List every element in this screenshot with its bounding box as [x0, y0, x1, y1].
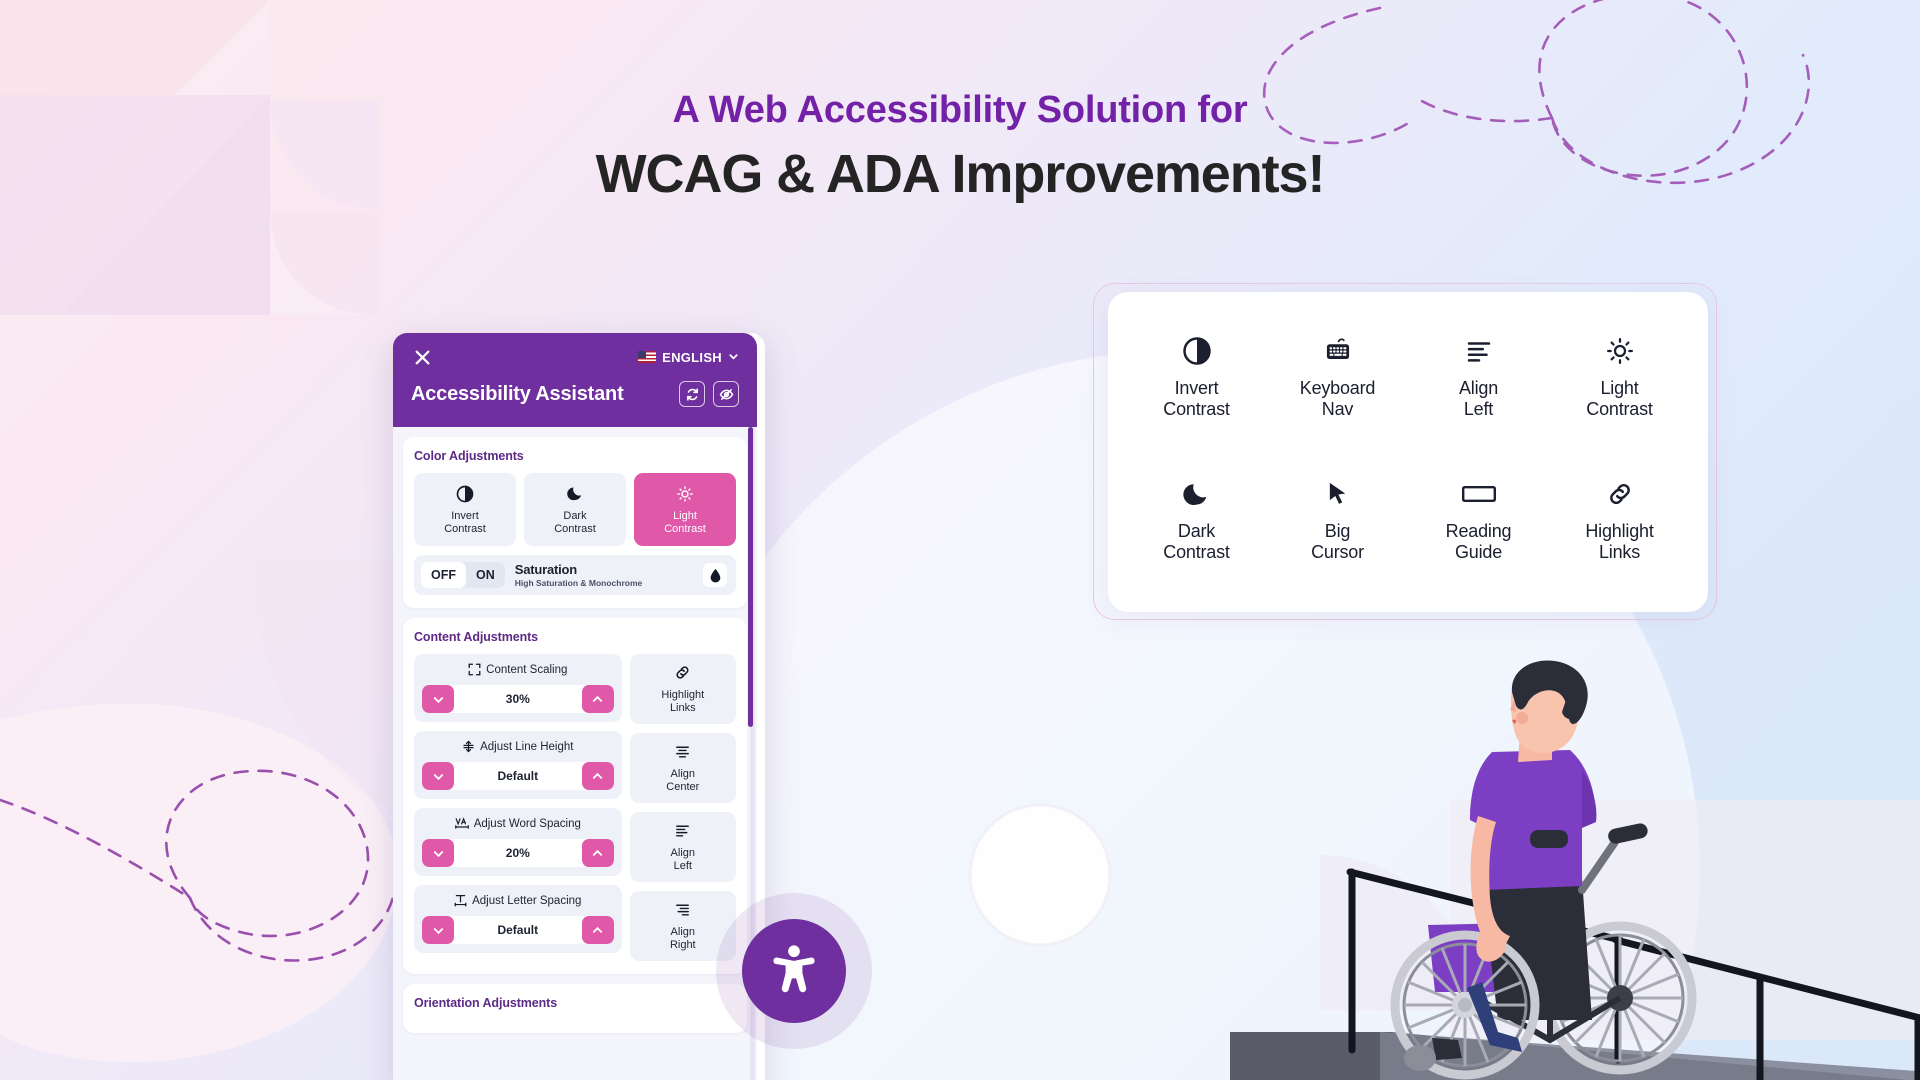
droplet-icon [703, 563, 727, 587]
contrast-half-circle-icon [456, 484, 474, 503]
stepper-label-text: Adjust Line Height [480, 741, 573, 753]
contrast-half-circle-icon [1182, 335, 1212, 367]
button-highlight-links[interactable]: Highlight Links [630, 654, 736, 724]
align-left-icon [674, 821, 691, 840]
button-label: Light Contrast [664, 510, 706, 536]
section-orientation-adjustments: Orientation Adjustments [403, 984, 747, 1033]
feature-item-label: Highlight Links [1585, 521, 1653, 563]
stepper-adjust-letter-spacing: Adjust Letter Spacing Default [414, 885, 622, 953]
stepper-adjust-line-height: Adjust Line Height Default [414, 731, 622, 799]
decrease-button[interactable] [422, 916, 454, 944]
decrease-button[interactable] [422, 685, 454, 713]
widget-scroll-body[interactable]: Color Adjustments Invert Contrast Dark C… [393, 427, 757, 1080]
toggle-off-option[interactable]: OFF [421, 562, 466, 588]
link-icon [1606, 478, 1634, 510]
line-height-icon [462, 740, 475, 753]
widget-title: Accessibility Assistant [411, 383, 624, 406]
button-align-left[interactable]: Align Left [630, 812, 736, 882]
increase-button[interactable] [582, 839, 614, 867]
button-dark-contrast[interactable]: Dark Contrast [524, 473, 626, 546]
toggle-on-option[interactable]: ON [466, 562, 505, 588]
feature-item-label: Align Left [1459, 378, 1498, 420]
widget-header: ENGLISH Accessibility Assistant [393, 333, 757, 427]
stepper-value: 20% [454, 839, 582, 867]
saturation-subtitle: High Saturation & Monochrome [515, 578, 693, 588]
reading-guide-icon [1462, 478, 1496, 510]
stepper-label-text: Adjust Letter Spacing [472, 895, 581, 907]
feature-item-highlight-links[interactable]: Highlight Links [1549, 478, 1690, 563]
cursor-arrow-icon [1324, 478, 1352, 510]
accessibility-person-icon [766, 941, 822, 1002]
language-label: ENGLISH [662, 350, 722, 365]
headline-block: A Web Accessibility Solution for WCAG & … [0, 88, 1920, 207]
moon-icon [1183, 478, 1211, 510]
stepper-value: 30% [454, 685, 582, 713]
align-left-icon [1464, 335, 1494, 367]
hide-interface-button[interactable] [713, 381, 739, 407]
section-content-adjustments: Content Adjustments Content Scaling [403, 618, 747, 974]
feature-item-label: Dark Contrast [1163, 521, 1229, 563]
scrollbar-thumb[interactable] [748, 427, 753, 727]
keyboard-icon [1322, 335, 1354, 367]
align-center-icon [674, 742, 691, 761]
saturation-title: Saturation [515, 562, 693, 577]
feature-card: Invert Contrast Keyboard Nav [1108, 292, 1708, 612]
feature-item-big-cursor[interactable]: Big Cursor [1267, 478, 1408, 563]
decrease-button[interactable] [422, 839, 454, 867]
stepper-value: Default [454, 762, 582, 790]
letter-spacing-icon [454, 894, 467, 907]
feature-item-reading-guide[interactable]: Reading Guide [1408, 478, 1549, 563]
feature-item-label: Invert Contrast [1163, 378, 1229, 420]
feature-item-label: Keyboard Nav [1300, 378, 1375, 420]
feature-item-light-contrast[interactable]: Light Contrast [1549, 335, 1690, 420]
button-label: Align Center [666, 768, 699, 794]
button-invert-contrast[interactable]: Invert Contrast [414, 473, 516, 546]
button-label: Align Left [671, 847, 695, 873]
section-color-adjustments: Color Adjustments Invert Contrast Dark C… [403, 437, 747, 608]
link-icon [674, 663, 691, 682]
headline-line-1: A Web Accessibility Solution for [0, 88, 1920, 133]
saturation-row: OFF ON Saturation High Saturation & Mono… [414, 555, 736, 595]
sun-icon [1605, 335, 1635, 367]
increase-button[interactable] [582, 916, 614, 944]
stepper-adjust-word-spacing: Adjust Word Spacing 20% [414, 808, 622, 876]
button-label: Highlight Links [661, 689, 704, 715]
stepper-label-text: Content Scaling [486, 664, 567, 676]
section-title: Color Adjustments [414, 449, 736, 463]
feature-item-label: Light Contrast [1586, 378, 1652, 420]
feature-item-label: Reading Guide [1446, 521, 1512, 563]
button-label: Align Right [670, 926, 696, 952]
expand-arrows-icon [468, 663, 481, 676]
section-title: Orientation Adjustments [414, 996, 736, 1010]
saturation-toggle[interactable]: OFF ON [421, 562, 505, 588]
align-right-icon [674, 900, 691, 919]
stepper-content-scaling: Content Scaling 30% [414, 654, 622, 722]
feature-item-dark-contrast[interactable]: Dark Contrast [1126, 478, 1267, 563]
increase-button[interactable] [582, 685, 614, 713]
button-light-contrast[interactable]: Light Contrast [634, 473, 736, 546]
person-in-wheelchair-on-ramp-illustration [1230, 640, 1920, 1080]
button-label: Invert Contrast [444, 510, 486, 536]
increase-button[interactable] [582, 762, 614, 790]
feature-item-align-left[interactable]: Align Left [1408, 335, 1549, 420]
reset-button[interactable] [679, 381, 705, 407]
close-icon[interactable] [411, 346, 433, 368]
word-spacing-icon [455, 817, 469, 830]
headline-line-2: WCAG & ADA Improvements! [0, 143, 1920, 207]
feature-item-keyboard-nav[interactable]: Keyboard Nav [1267, 335, 1408, 420]
decrease-button[interactable] [422, 762, 454, 790]
chevron-down-icon [728, 350, 739, 365]
stepper-value: Default [454, 916, 582, 944]
accessibility-fab-button[interactable] [742, 919, 846, 1023]
language-selector[interactable]: ENGLISH [638, 350, 739, 365]
stepper-label-text: Adjust Word Spacing [474, 818, 581, 830]
section-title: Content Adjustments [414, 630, 736, 644]
feature-item-invert-contrast[interactable]: Invert Contrast [1126, 335, 1267, 420]
sun-icon [676, 484, 694, 503]
moon-icon [567, 484, 584, 503]
us-flag-icon [638, 351, 656, 363]
button-align-center[interactable]: Align Center [630, 733, 736, 803]
button-label: Dark Contrast [554, 510, 596, 536]
feature-item-label: Big Cursor [1311, 521, 1364, 563]
accessibility-assistant-widget: ENGLISH Accessibility Assistant [393, 333, 757, 1080]
